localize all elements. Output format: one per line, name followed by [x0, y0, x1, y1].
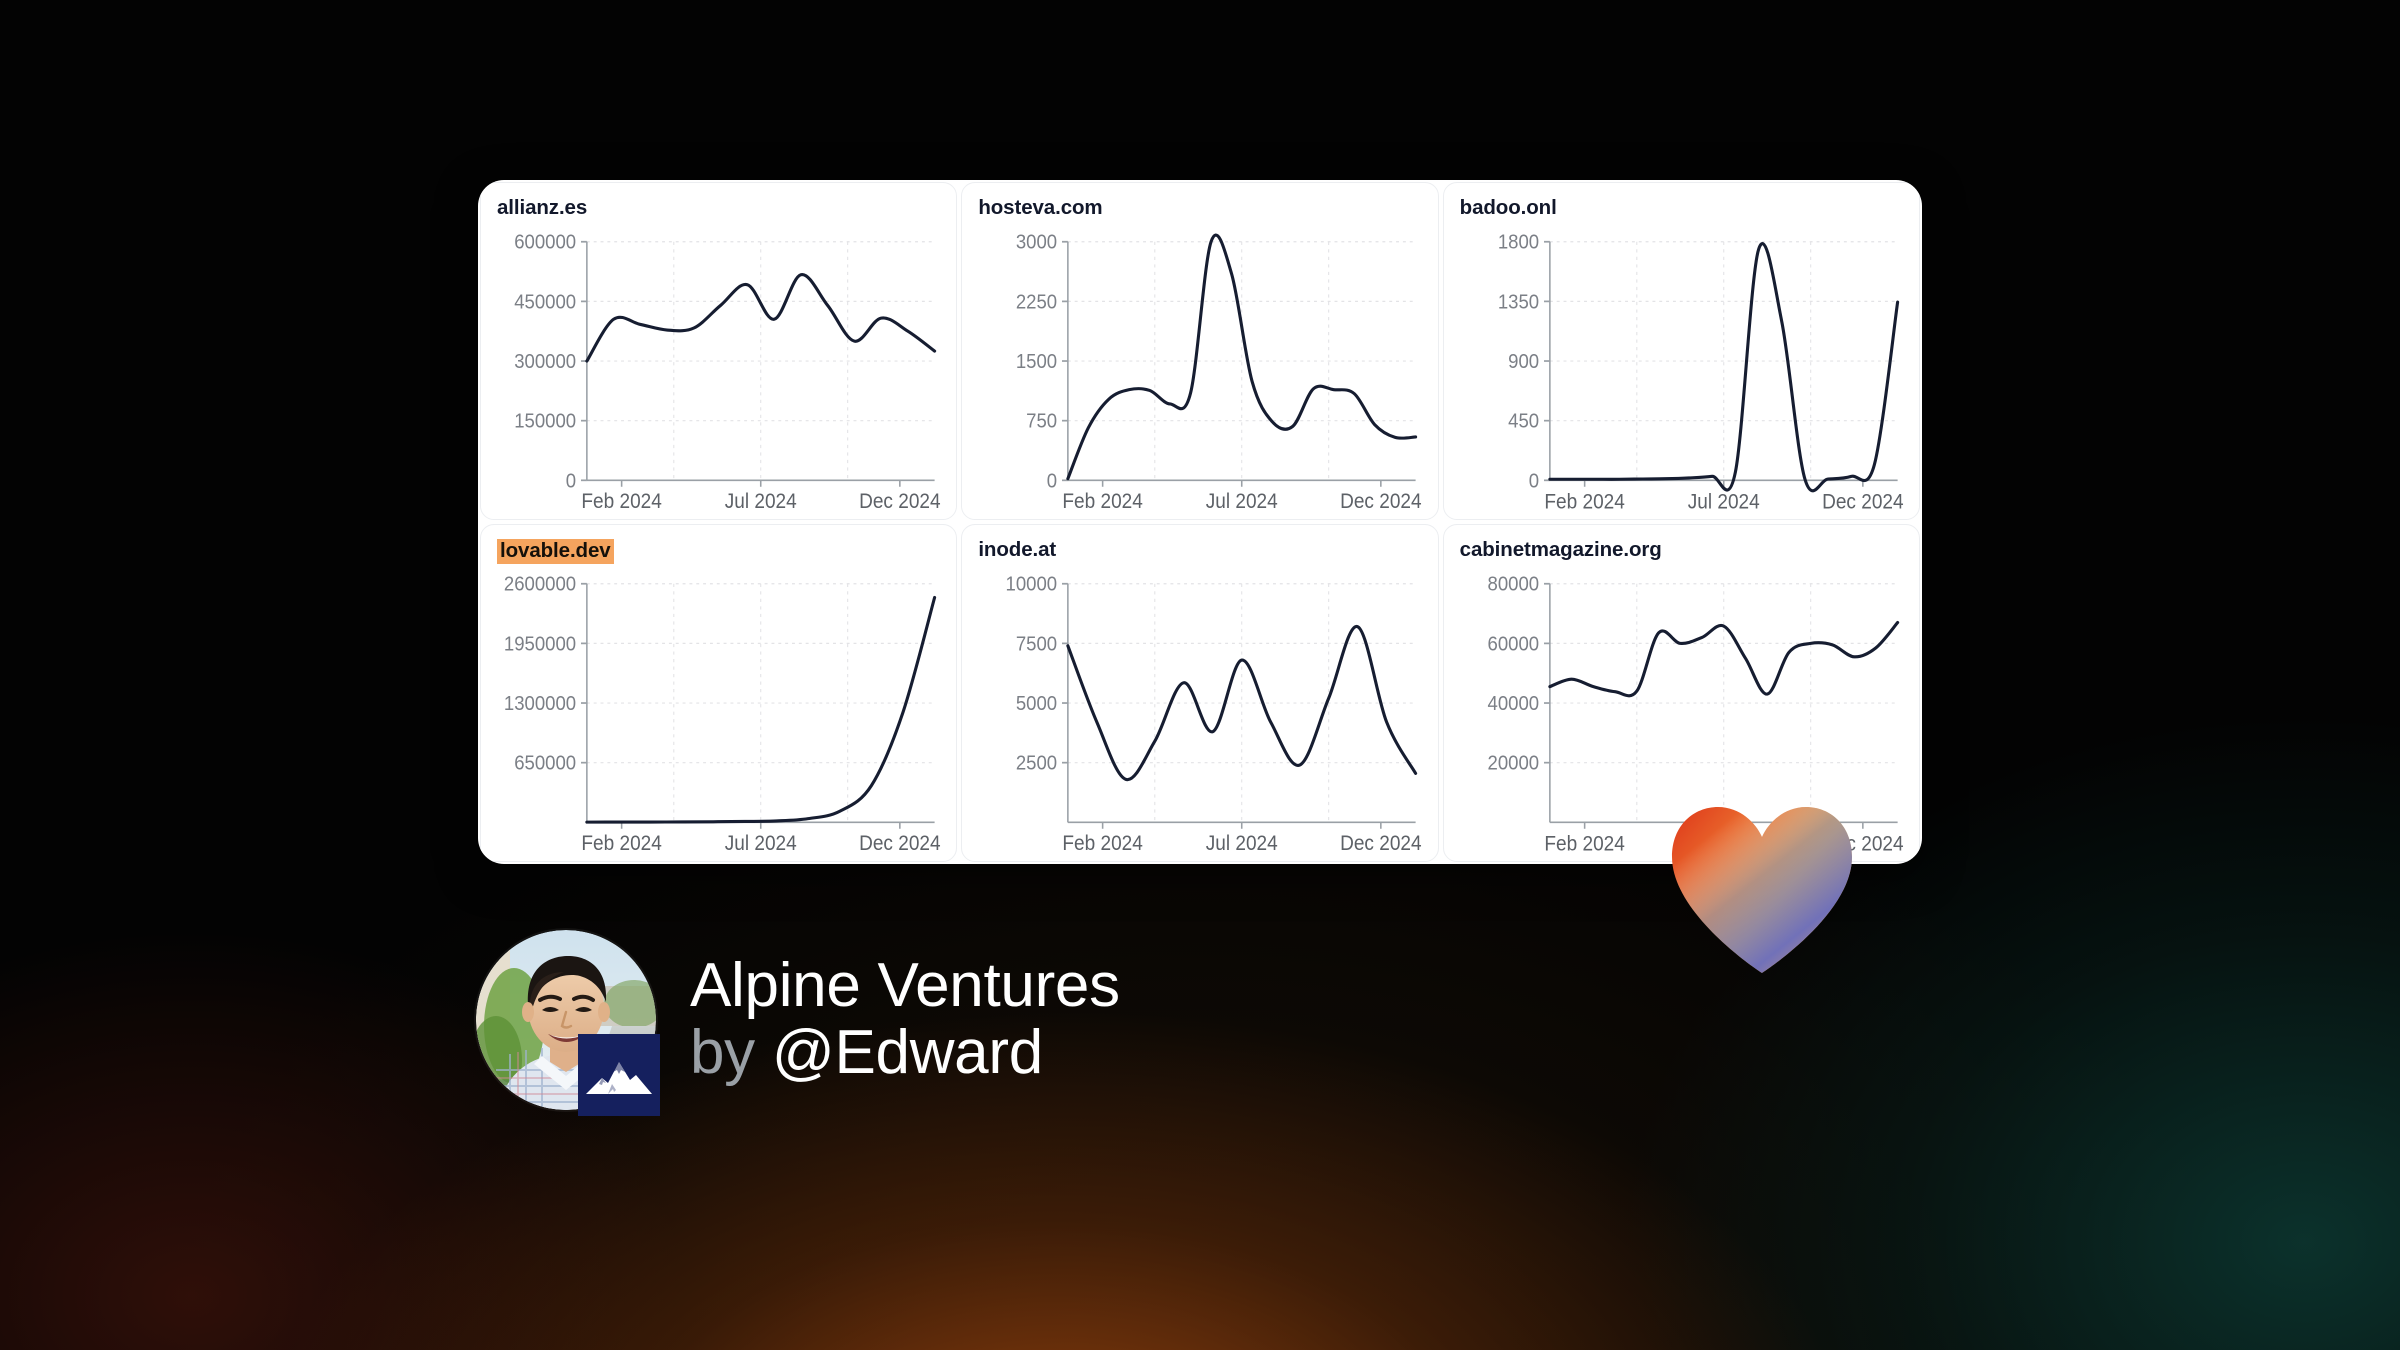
y-tick-label: 2250: [1016, 291, 1057, 314]
chart-card[interactable]: badoo.onl045090013501800Feb 2024Jul 2024…: [1443, 182, 1920, 520]
y-tick-label: 1300000: [504, 692, 576, 715]
y-tick-label: 0: [566, 470, 576, 493]
y-tick-label: 450: [1508, 410, 1539, 433]
by-label: by: [690, 1018, 755, 1087]
y-tick-label: 1800: [1498, 231, 1539, 254]
y-tick-label: 2600000: [504, 573, 576, 596]
charts-panel: allianz.es0150000300000450000600000Feb 2…: [478, 180, 1922, 864]
x-tick-label: Dec 2024: [859, 490, 941, 513]
y-tick-label: 7500: [1016, 633, 1057, 656]
y-tick-label: 1950000: [504, 633, 576, 656]
y-tick-label: 150000: [514, 410, 576, 433]
y-tick-label: 1500: [1016, 350, 1057, 373]
y-tick-label: 1350: [1498, 291, 1539, 314]
x-tick-label: Feb 2024: [581, 490, 661, 513]
y-tick-label: 0: [1528, 470, 1538, 493]
chart-card[interactable]: inode.at25005000750010000Feb 2024Jul 202…: [961, 524, 1438, 862]
x-tick-label: Feb 2024: [1063, 490, 1143, 513]
x-tick-label: Jul 2024: [725, 490, 797, 513]
x-tick-label: Jul 2024: [1206, 490, 1278, 513]
x-tick-label: Jul 2024: [1206, 832, 1278, 855]
x-tick-label: Feb 2024: [1544, 832, 1624, 855]
chart-card[interactable]: allianz.es0150000300000450000600000Feb 2…: [480, 182, 957, 520]
x-tick-label: Jul 2024: [725, 832, 797, 855]
x-tick-label: Jul 2024: [1687, 490, 1759, 513]
chart-title: hosteva.com: [978, 197, 1102, 220]
chart-plot: 25005000750010000Feb 2024Jul 2024Dec 202…: [978, 573, 1427, 861]
chart-plot: 0150000300000450000600000Feb 2024Jul 202…: [497, 231, 946, 519]
y-tick-label: 40000: [1487, 692, 1539, 715]
y-tick-label: 10000: [1006, 573, 1058, 596]
chart-plot: 0750150022503000Feb 2024Jul 2024Dec 2024: [978, 231, 1427, 519]
x-tick-label: Feb 2024: [1063, 832, 1143, 855]
chart-title: lovable.dev: [497, 539, 614, 564]
charts-grid: allianz.es0150000300000450000600000Feb 2…: [478, 180, 1922, 864]
x-tick-label: Dec 2024: [859, 832, 941, 855]
x-tick-label: Dec 2024: [1340, 490, 1422, 513]
chart-card[interactable]: hosteva.com0750150022503000Feb 2024Jul 2…: [961, 182, 1438, 520]
org-name: Alpine Ventures: [690, 953, 1120, 1020]
y-tick-label: 20000: [1487, 752, 1539, 775]
mountain-logo-badge: [578, 1034, 660, 1116]
author-footer: Alpine Ventures by @Edward: [476, 930, 1120, 1110]
chart-title: badoo.onl: [1460, 197, 1557, 220]
x-tick-label: Feb 2024: [581, 832, 661, 855]
y-tick-label: 900: [1508, 350, 1539, 373]
y-tick-label: 60000: [1487, 633, 1539, 656]
author-names: Alpine Ventures by @Edward: [690, 953, 1120, 1087]
chart-title: allianz.es: [497, 197, 587, 220]
chart-title: cabinetmagazine.org: [1460, 539, 1662, 562]
y-tick-label: 450000: [514, 291, 576, 314]
x-tick-label: Dec 2024: [1822, 490, 1904, 513]
chart-plot: 045090013501800Feb 2024Jul 2024Dec 2024: [1460, 231, 1909, 519]
gradient-heart-logo: [1668, 805, 1856, 975]
y-tick-label: 600000: [514, 231, 576, 254]
chart-card[interactable]: lovable.dev650000130000019500002600000Fe…: [480, 524, 957, 862]
y-tick-label: 2500: [1016, 752, 1057, 775]
x-tick-label: Feb 2024: [1544, 490, 1624, 513]
chart-plot: 650000130000019500002600000Feb 2024Jul 2…: [497, 573, 946, 861]
y-tick-label: 3000: [1016, 231, 1057, 254]
author-handle: @Edward: [772, 1018, 1043, 1087]
x-tick-label: Dec 2024: [1340, 832, 1422, 855]
chart-title: inode.at: [978, 539, 1056, 562]
avatar-with-badge: [476, 930, 656, 1110]
y-tick-label: 80000: [1487, 573, 1539, 596]
y-tick-label: 5000: [1016, 692, 1057, 715]
byline: by @Edward: [690, 1020, 1120, 1087]
y-tick-label: 300000: [514, 350, 576, 373]
y-tick-label: 750: [1026, 410, 1057, 433]
y-tick-label: 650000: [514, 752, 576, 775]
y-tick-label: 0: [1047, 470, 1057, 493]
